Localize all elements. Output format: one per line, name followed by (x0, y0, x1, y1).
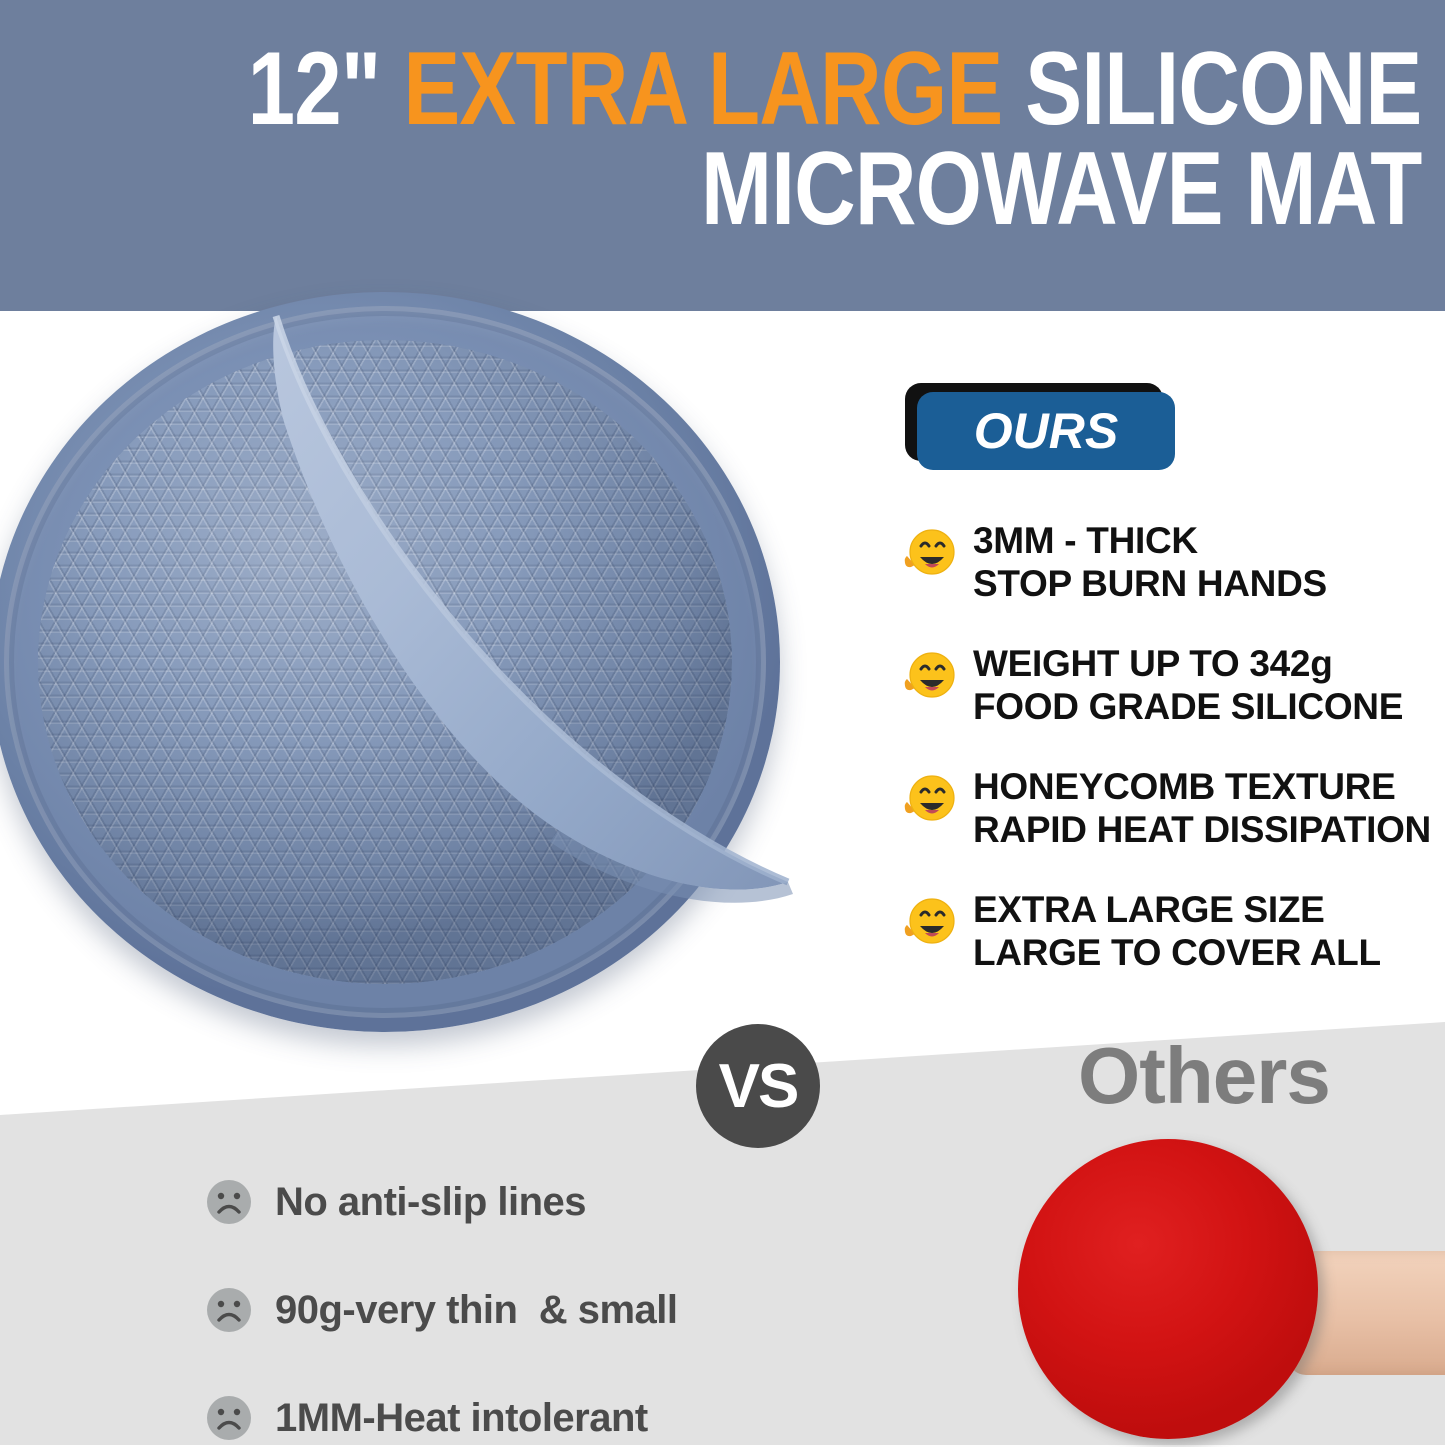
title-line-1: 12" EXTRA LARGE SILICONE (247, 40, 1421, 140)
feature-text: WEIGHT UP TO 342g FOOD GRADE SILICONE (973, 643, 1403, 728)
others-title: Others (1078, 1030, 1330, 1122)
feature-line-1: WEIGHT UP TO 342g (973, 643, 1403, 686)
list-item: WEIGHT UP TO 342g FOOD GRADE SILICONE (903, 643, 1443, 728)
feature-line-2: STOP BURN HANDS (973, 563, 1327, 606)
ours-badge-body: OURS (917, 392, 1175, 470)
sad-face-emoji-icon (205, 1286, 253, 1334)
mat-rim (4, 306, 766, 1018)
feature-line-1: EXTRA LARGE SIZE (973, 889, 1381, 932)
versus-label: VS (719, 1051, 798, 1122)
others-cons-list: No anti-slip lines 90g-very thin & small… (205, 1178, 845, 1442)
con-text: 90g-very thin & small (275, 1288, 677, 1333)
mat-face (38, 340, 732, 984)
title-line-2: MICROWAVE MAT (247, 140, 1421, 240)
list-item: 1MM-Heat intolerant (205, 1394, 845, 1442)
feature-text: 3MM - THICK STOP BURN HANDS (973, 520, 1327, 605)
list-item: 90g-very thin & small (205, 1286, 845, 1334)
title-size-text: 12" (247, 31, 403, 147)
list-item: No anti-slip lines (205, 1178, 845, 1226)
feature-text: HONEYCOMB TEXTURE RAPID HEAT DISSIPATION (973, 766, 1431, 851)
feature-line-2: LARGE TO COVER ALL (973, 932, 1381, 975)
list-item: HONEYCOMB TEXTURE RAPID HEAT DISSIPATION (903, 766, 1443, 851)
feature-line-1: HONEYCOMB TEXTURE (973, 766, 1431, 809)
happy-face-emoji-icon (903, 772, 957, 826)
ours-badge-label: OURS (974, 402, 1118, 460)
list-item: EXTRA LARGE SIZE LARGE TO COVER ALL (903, 889, 1443, 974)
sad-face-emoji-icon (205, 1178, 253, 1226)
title-material-text: SILICONE (1002, 31, 1421, 147)
happy-face-emoji-icon (903, 649, 957, 703)
list-item: 3MM - THICK STOP BURN HANDS (903, 520, 1443, 605)
sad-face-emoji-icon (205, 1394, 253, 1442)
header-banner: 12" EXTRA LARGE SILICONE MICROWAVE MAT (0, 0, 1445, 311)
product-mat-image (0, 292, 800, 1040)
plain-red-mat-icon (1018, 1139, 1318, 1439)
mat-outer-edge (0, 292, 780, 1032)
ours-badge: OURS (905, 383, 1175, 471)
feature-line-2: FOOD GRADE SILICONE (973, 686, 1403, 729)
con-text: No anti-slip lines (275, 1180, 586, 1225)
versus-badge: VS (696, 1024, 820, 1148)
feature-line-2: RAPID HEAT DISSIPATION (973, 809, 1431, 852)
ours-feature-list: 3MM - THICK STOP BURN HANDS WEIGHT UP TO… (903, 520, 1443, 974)
others-product-image (1008, 1133, 1445, 1445)
happy-face-emoji-icon (903, 895, 957, 949)
feature-line-1: 3MM - THICK (973, 520, 1327, 563)
page-title: 12" EXTRA LARGE SILICONE MICROWAVE MAT (0, 40, 1421, 240)
con-text: 1MM-Heat intolerant (275, 1396, 648, 1441)
happy-face-emoji-icon (903, 526, 957, 580)
mat-shading (38, 340, 732, 984)
title-accent-text: EXTRA LARGE (403, 31, 1002, 147)
feature-text: EXTRA LARGE SIZE LARGE TO COVER ALL (973, 889, 1381, 974)
